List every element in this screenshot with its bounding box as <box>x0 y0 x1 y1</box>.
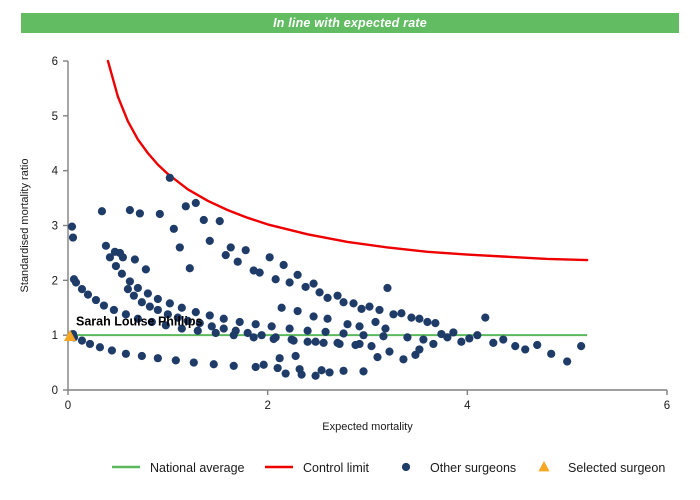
legend-label-text: Selected surgeon <box>568 461 665 475</box>
data-point-other-surgeon[interactable] <box>403 333 411 341</box>
data-point-other-surgeon[interactable] <box>119 253 127 261</box>
data-point-other-surgeon[interactable] <box>250 333 258 341</box>
data-point-other-surgeon[interactable] <box>323 315 331 323</box>
data-point-other-surgeon[interactable] <box>98 207 106 215</box>
data-point-other-surgeon[interactable] <box>110 306 118 314</box>
data-point-other-surgeon[interactable] <box>92 296 100 304</box>
data-point-other-surgeon[interactable] <box>190 358 198 366</box>
y-tick-label: 6 <box>52 56 58 68</box>
x-tick-label: 4 <box>464 400 471 412</box>
data-point-other-surgeon[interactable] <box>138 298 146 306</box>
data-point-other-surgeon[interactable] <box>227 243 235 251</box>
data-point-other-surgeon[interactable] <box>126 277 134 285</box>
y-tick-label: 1 <box>52 330 58 342</box>
data-point-other-surgeon[interactable] <box>69 233 77 241</box>
legend-label-text: National average <box>150 461 245 475</box>
data-point-other-surgeon[interactable] <box>280 261 288 269</box>
data-point-other-surgeon[interactable] <box>577 342 585 350</box>
data-point-other-surgeon[interactable] <box>154 306 162 314</box>
data-point-other-surgeon[interactable] <box>154 295 162 303</box>
data-point-other-surgeon[interactable] <box>389 310 397 318</box>
data-point-other-surgeon[interactable] <box>298 371 306 379</box>
data-point-other-surgeon[interactable] <box>371 318 379 326</box>
legend-marker-triangle <box>538 461 549 471</box>
data-point-other-surgeon[interactable] <box>359 367 367 375</box>
data-point-other-surgeon[interactable] <box>521 345 529 353</box>
x-tick-label: 2 <box>264 400 270 412</box>
data-point-other-surgeon[interactable] <box>222 251 230 259</box>
data-point-other-surgeon[interactable] <box>359 331 367 339</box>
data-point-other-surgeon[interactable] <box>304 338 312 346</box>
data-point-other-surgeon[interactable] <box>309 280 317 288</box>
x-axis-title: Expected mortality <box>322 421 413 433</box>
data-point-other-surgeon[interactable] <box>72 278 80 286</box>
plot-area: 01234560246Expected mortalityStandardise… <box>19 56 670 475</box>
data-point-other-surgeon[interactable] <box>142 265 150 273</box>
data-point-other-surgeon[interactable] <box>136 209 144 217</box>
data-point-other-surgeon[interactable] <box>252 320 260 328</box>
data-point-other-surgeon[interactable] <box>355 322 363 330</box>
data-point-other-surgeon[interactable] <box>266 253 274 261</box>
data-point-other-surgeon[interactable] <box>423 318 431 326</box>
data-point-other-surgeon[interactable] <box>343 320 351 328</box>
data-point-other-surgeon[interactable] <box>192 199 200 207</box>
data-point-other-surgeon[interactable] <box>311 338 319 346</box>
data-point-other-surgeon[interactable] <box>186 264 194 272</box>
y-tick-label: 2 <box>52 275 58 287</box>
data-point-other-surgeon[interactable] <box>144 289 152 297</box>
data-point-other-surgeon[interactable] <box>381 324 389 332</box>
data-point-other-surgeon[interactable] <box>210 360 218 368</box>
data-point-other-surgeon[interactable] <box>397 309 405 317</box>
data-point-other-surgeon[interactable] <box>311 372 319 380</box>
data-point-other-surgeon[interactable] <box>134 284 142 292</box>
control-limit-curve <box>108 61 587 260</box>
data-point-other-surgeon[interactable] <box>319 339 327 347</box>
data-point-other-surgeon[interactable] <box>481 314 489 322</box>
data-point-other-surgeon[interactable] <box>309 312 317 320</box>
data-point-other-surgeon[interactable] <box>473 331 481 339</box>
data-point-other-surgeon[interactable] <box>465 334 473 342</box>
data-point-other-surgeon[interactable] <box>170 225 178 233</box>
data-point-other-surgeon[interactable] <box>563 357 571 365</box>
data-point-other-surgeon[interactable] <box>357 305 365 313</box>
data-point-other-surgeon[interactable] <box>333 339 341 347</box>
data-point-other-surgeon[interactable] <box>457 338 465 346</box>
funnel-plot-figure: 01234560246Expected mortalityStandardise… <box>0 40 700 500</box>
data-point-other-surgeon[interactable] <box>333 292 341 300</box>
data-point-other-surgeon[interactable] <box>373 353 381 361</box>
data-point-other-surgeon[interactable] <box>407 314 415 322</box>
data-point-other-surgeon[interactable] <box>156 210 164 218</box>
data-point-other-surgeon[interactable] <box>236 318 244 326</box>
data-point-other-surgeon[interactable] <box>124 285 132 293</box>
data-point-other-surgeon[interactable] <box>339 367 347 375</box>
data-point-other-surgeon[interactable] <box>130 292 138 300</box>
data-point-other-surgeon[interactable] <box>78 337 86 345</box>
data-point-other-surgeon[interactable] <box>260 361 268 369</box>
data-point-other-surgeon[interactable] <box>242 246 250 254</box>
data-point-other-surgeon[interactable] <box>415 315 423 323</box>
data-point-other-surgeon[interactable] <box>230 331 238 339</box>
data-point-other-surgeon[interactable] <box>256 269 264 277</box>
data-point-other-surgeon[interactable] <box>292 352 300 360</box>
data-point-other-surgeon[interactable] <box>290 337 298 345</box>
data-point-other-surgeon[interactable] <box>349 299 357 307</box>
data-point-other-surgeon[interactable] <box>68 222 76 230</box>
data-point-other-surgeon[interactable] <box>385 348 393 356</box>
data-point-other-surgeon[interactable] <box>102 242 110 250</box>
data-point-other-surgeon[interactable] <box>230 362 238 370</box>
data-point-other-surgeon[interactable] <box>166 299 174 307</box>
data-point-other-surgeon[interactable] <box>323 294 331 302</box>
data-point-other-surgeon[interactable] <box>220 315 228 323</box>
data-point-other-surgeon[interactable] <box>355 340 363 348</box>
data-point-other-surgeon[interactable] <box>294 307 302 315</box>
data-point-other-surgeon[interactable] <box>131 255 139 263</box>
data-point-other-surgeon[interactable] <box>108 346 116 354</box>
data-point-other-surgeon[interactable] <box>176 243 184 251</box>
data-point-other-surgeon[interactable] <box>112 262 120 270</box>
data-point-other-surgeon[interactable] <box>383 284 391 292</box>
data-point-other-surgeon[interactable] <box>252 363 260 371</box>
data-point-other-surgeon[interactable] <box>286 324 294 332</box>
data-point-other-surgeon[interactable] <box>367 342 375 350</box>
y-tick-label: 4 <box>52 166 59 178</box>
data-point-other-surgeon[interactable] <box>339 298 347 306</box>
data-point-other-surgeon[interactable] <box>126 206 134 214</box>
data-point-other-surgeon[interactable] <box>429 340 437 348</box>
data-point-other-surgeon[interactable] <box>419 335 427 343</box>
data-point-other-surgeon[interactable] <box>200 216 208 224</box>
data-point-other-surgeon[interactable] <box>547 350 555 358</box>
y-tick-label: 0 <box>52 385 58 397</box>
data-point-other-surgeon[interactable] <box>431 319 439 327</box>
data-point-other-surgeon[interactable] <box>96 343 104 351</box>
legend-label-text: Control limit <box>303 461 370 475</box>
data-point-other-surgeon[interactable] <box>182 202 190 210</box>
data-point-other-surgeon[interactable] <box>220 324 228 332</box>
data-point-other-surgeon[interactable] <box>278 304 286 312</box>
data-point-other-surgeon[interactable] <box>272 275 280 283</box>
data-point-other-surgeon[interactable] <box>166 174 174 182</box>
legend-label-text: Other surgeons <box>430 461 516 475</box>
data-point-other-surgeon[interactable] <box>84 290 92 298</box>
funnel-plot-svg: 01234560246Expected mortalityStandardise… <box>0 40 700 500</box>
data-point-other-surgeon[interactable] <box>499 335 507 343</box>
y-tick-label: 3 <box>52 221 58 233</box>
data-point-other-surgeon[interactable] <box>449 328 457 336</box>
data-point-other-surgeon[interactable] <box>100 301 108 309</box>
data-point-other-surgeon[interactable] <box>206 237 214 245</box>
data-point-other-surgeon[interactable] <box>122 350 130 358</box>
status-banner: In line with expected rate <box>21 13 679 33</box>
data-point-other-surgeon[interactable] <box>315 288 323 296</box>
data-point-other-surgeon[interactable] <box>86 340 94 348</box>
data-point-other-surgeon[interactable] <box>399 355 407 363</box>
other-surgeons-series <box>68 174 585 380</box>
data-point-other-surgeon[interactable] <box>106 253 114 261</box>
data-point-other-surgeon[interactable] <box>302 283 310 291</box>
selected-surgeon-annotation: Sarah Louise Phillips <box>76 314 202 328</box>
data-point-other-surgeon[interactable] <box>533 341 541 349</box>
x-tick-label: 6 <box>664 400 670 412</box>
data-point-other-surgeon[interactable] <box>258 331 266 339</box>
data-point-other-surgeon[interactable] <box>234 258 242 266</box>
data-point-other-surgeon[interactable] <box>325 368 333 376</box>
data-point-other-surgeon[interactable] <box>178 304 186 312</box>
data-point-other-surgeon[interactable] <box>172 356 180 364</box>
data-point-other-surgeon[interactable] <box>274 364 282 372</box>
data-point-other-surgeon[interactable] <box>415 345 423 353</box>
data-point-other-surgeon[interactable] <box>286 278 294 286</box>
data-point-other-surgeon[interactable] <box>268 322 276 330</box>
data-point-other-surgeon[interactable] <box>206 311 214 319</box>
data-point-other-surgeon[interactable] <box>146 303 154 311</box>
data-point-other-surgeon[interactable] <box>216 217 224 225</box>
data-point-other-surgeon[interactable] <box>270 335 278 343</box>
y-axis-title: Standardised mortality ratio <box>19 159 31 293</box>
data-point-other-surgeon[interactable] <box>154 354 162 362</box>
data-point-other-surgeon[interactable] <box>375 306 383 314</box>
data-point-other-surgeon[interactable] <box>379 332 387 340</box>
data-point-other-surgeon[interactable] <box>294 271 302 279</box>
x-tick-label: 0 <box>65 400 71 412</box>
data-point-other-surgeon[interactable] <box>282 369 290 377</box>
data-point-other-surgeon[interactable] <box>138 352 146 360</box>
data-point-other-surgeon[interactable] <box>365 303 373 311</box>
legend-marker-dot <box>402 463 410 471</box>
y-tick-label: 5 <box>52 111 58 123</box>
data-point-other-surgeon[interactable] <box>339 329 347 337</box>
data-point-other-surgeon[interactable] <box>118 270 126 278</box>
data-point-other-surgeon[interactable] <box>304 327 312 335</box>
data-point-other-surgeon[interactable] <box>212 329 220 337</box>
data-point-other-surgeon[interactable] <box>489 339 497 347</box>
data-point-other-surgeon[interactable] <box>321 328 329 336</box>
data-point-other-surgeon[interactable] <box>276 354 284 362</box>
data-point-other-surgeon[interactable] <box>511 342 519 350</box>
